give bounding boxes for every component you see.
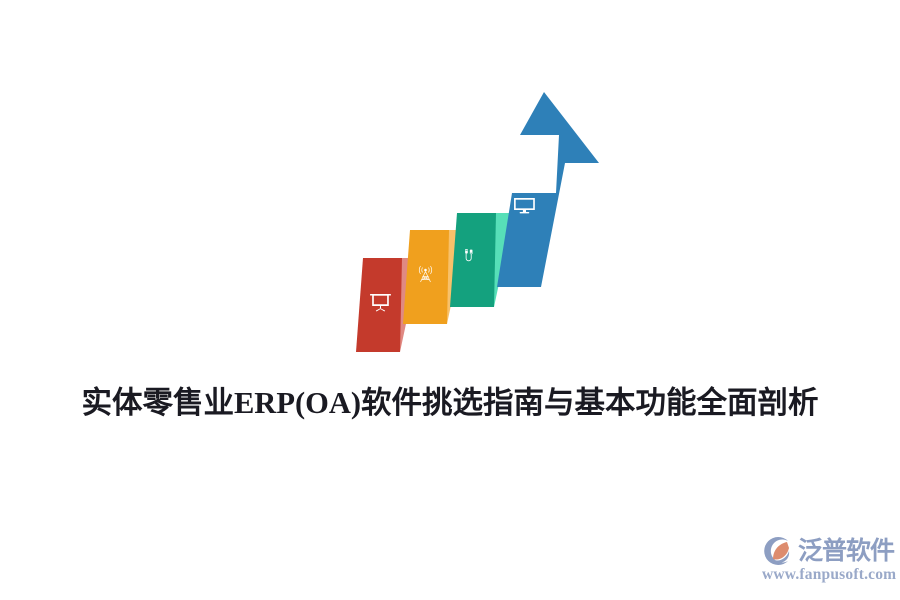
segment-2-body: [403, 230, 449, 324]
page-title: 实体零售业ERP(OA)软件挑选指南与基本功能全面剖析: [0, 378, 900, 428]
brand-url: www.fanpusoft.com: [762, 566, 894, 584]
fanpu-circle-leaf-logo-icon: [762, 535, 796, 567]
poster-canvas: 实体零售业ERP(OA)软件挑选指南与基本功能全面剖析 泛普软件 www.fan…: [0, 0, 900, 600]
brand-name: 泛普软件: [798, 536, 894, 566]
hero-illustration: [0, 0, 900, 380]
segment-3-body: [450, 213, 496, 307]
arrow-segment-monitor: [497, 92, 599, 287]
arrow-shaft-and-head: [497, 92, 599, 287]
brand-watermark: 泛普软件 www.fanpusoft.com: [762, 534, 894, 586]
brand-logo-row: 泛普软件: [762, 534, 894, 568]
